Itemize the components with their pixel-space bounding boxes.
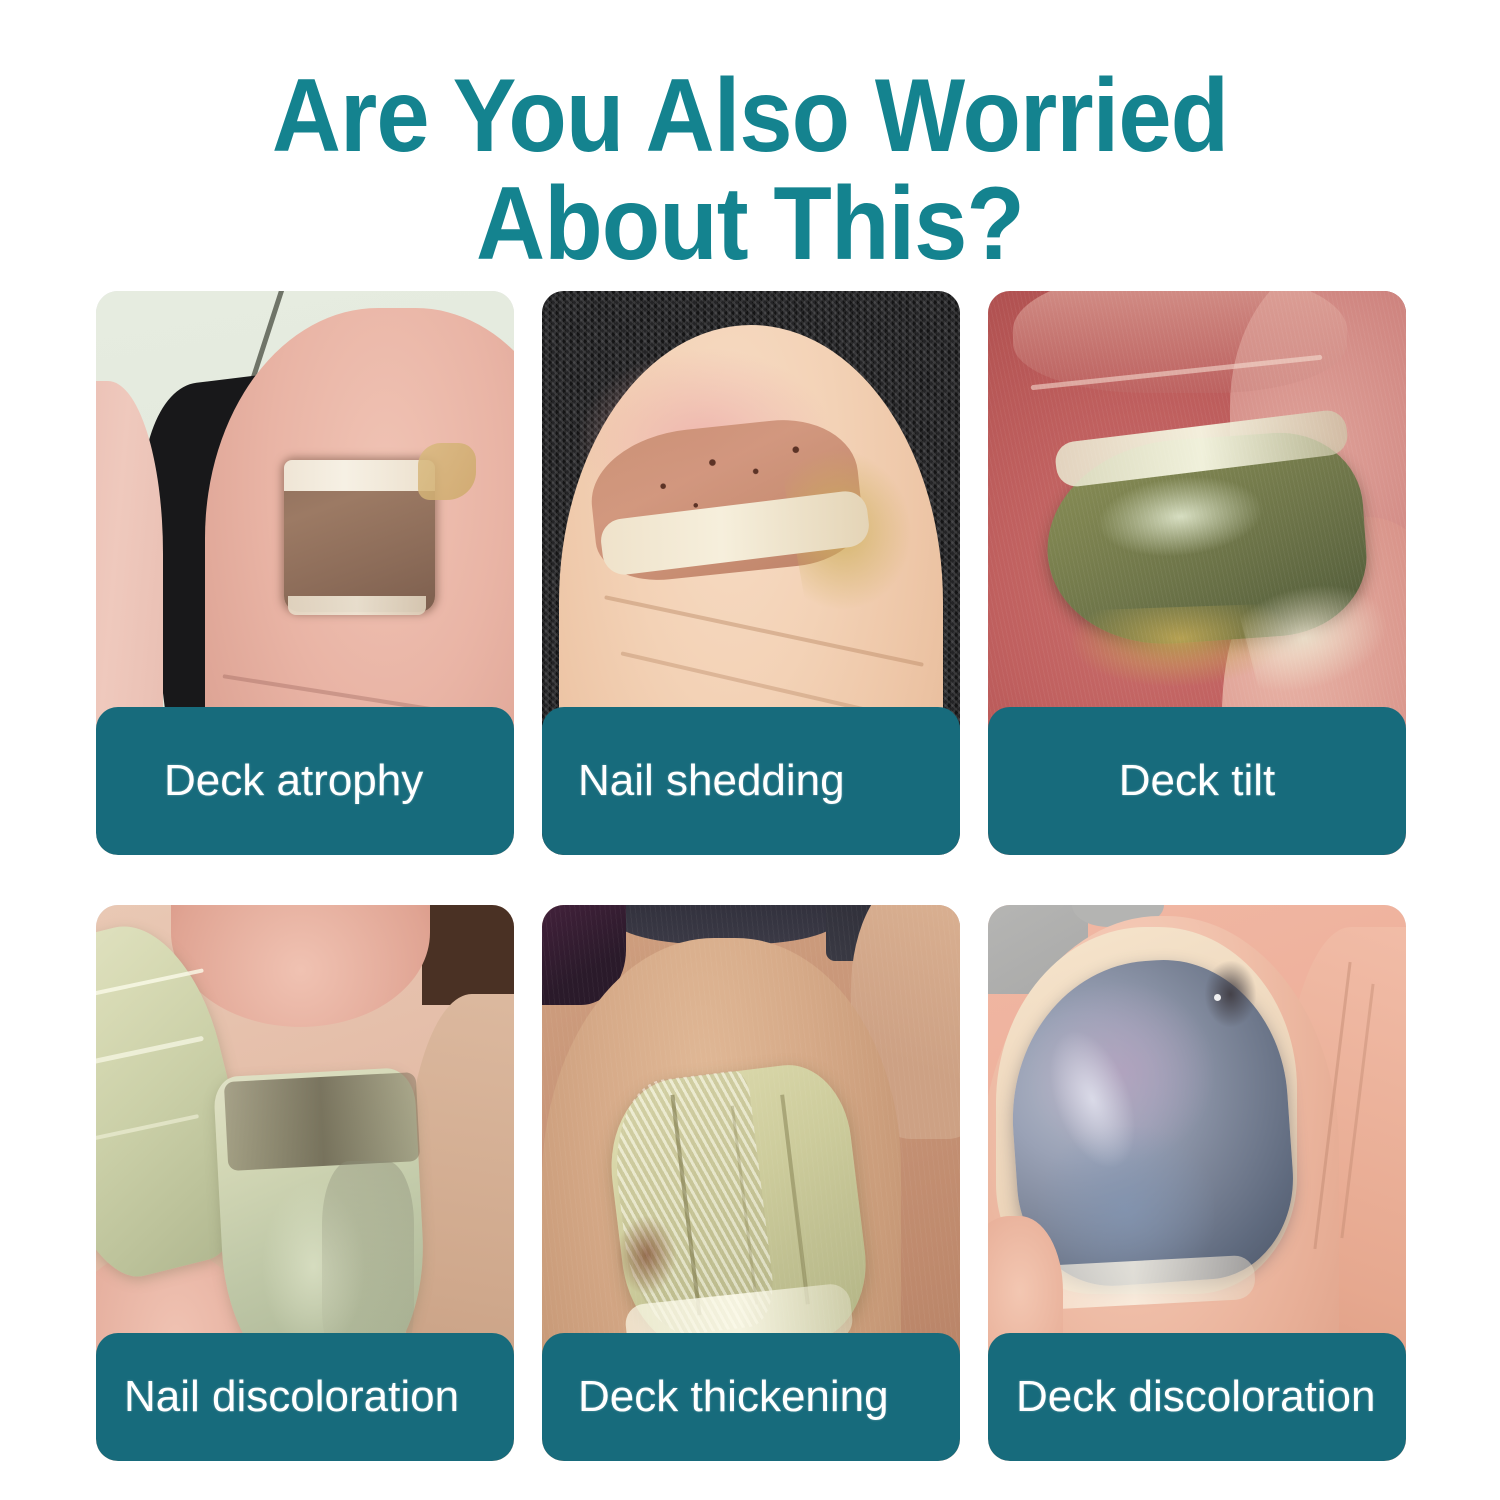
- symptom-label-bar-deck-thickening: Deck thickening: [542, 1333, 960, 1461]
- symptom-caption: Deck atrophy: [164, 757, 423, 805]
- symptom-caption: Nail discoloration: [124, 1373, 459, 1421]
- symptom-caption: Deck tilt: [1119, 757, 1275, 805]
- symptom-label-bar-deck-discoloration: Deck discoloration: [988, 1333, 1406, 1461]
- symptom-caption: Nail shedding: [578, 757, 845, 805]
- symptom-card-deck-thickening[interactable]: Deck thickening: [542, 905, 960, 1461]
- symptom-caption: Deck discoloration: [1016, 1373, 1376, 1421]
- page-title-line-2: About This?: [60, 170, 1440, 278]
- symptom-label-bar-deck-atrophy: Deck atrophy: [96, 707, 514, 855]
- page-title-line-1: Are You Also Worried: [60, 62, 1440, 170]
- symptom-card-nail-discoloration[interactable]: Nail discoloration: [96, 905, 514, 1461]
- symptom-card-deck-tilt[interactable]: Deck tilt: [988, 291, 1406, 855]
- promo-page: Are You Also Worried About This? Deck at…: [0, 0, 1500, 1500]
- symptom-label-bar-nail-discoloration: Nail discoloration: [96, 1333, 514, 1461]
- symptom-card-deck-discoloration[interactable]: Deck discoloration: [988, 905, 1406, 1461]
- page-title: Are You Also Worried About This?: [0, 62, 1500, 278]
- symptom-card-deck-atrophy[interactable]: Deck atrophy: [96, 291, 514, 855]
- symptom-caption: Deck thickening: [578, 1373, 889, 1421]
- symptom-card-nail-shedding[interactable]: Nail shedding: [542, 291, 960, 855]
- symptom-gallery-grid: Deck atrophy Nail shedding: [96, 291, 1406, 1461]
- symptom-label-bar-deck-tilt: Deck tilt: [988, 707, 1406, 855]
- symptom-label-bar-nail-shedding: Nail shedding: [542, 707, 960, 855]
